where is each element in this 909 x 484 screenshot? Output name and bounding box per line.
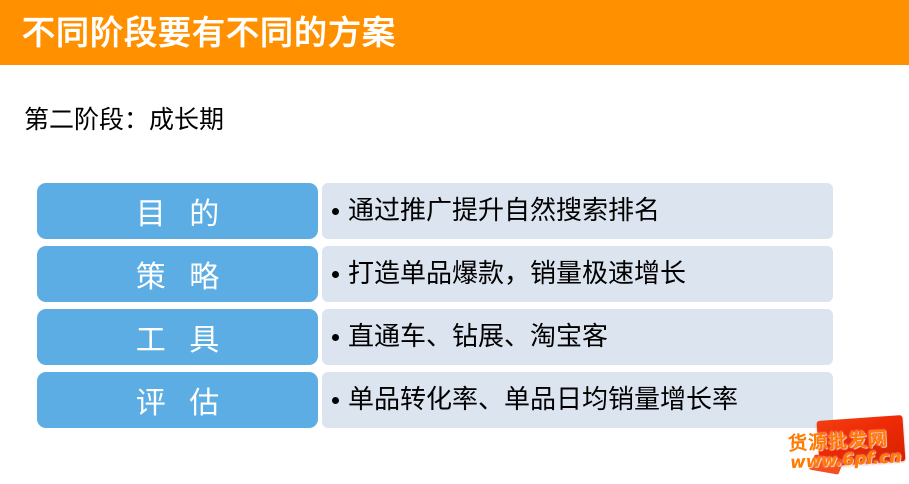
bullet-icon [332, 271, 339, 278]
table-row: 目 的 通过推广提升自然搜索排名 [37, 183, 833, 239]
row-label-strategy: 策 略 [37, 246, 318, 302]
row-body-strategy: 打造单品爆款，销量极速增长 [322, 246, 833, 302]
row-body-purpose: 通过推广提升自然搜索排名 [322, 183, 833, 239]
stage-subtitle: 第二阶段：成长期 [24, 103, 224, 137]
row-body-text: 单品转化率、单品日均销量增长率 [348, 383, 738, 417]
row-body-text: 打造单品爆款，销量极速增长 [348, 257, 686, 291]
row-label-purpose: 目 的 [37, 183, 318, 239]
title-bar: 不同阶段要有不同的方案 [0, 0, 909, 65]
row-label-tools: 工 具 [37, 309, 318, 365]
slide-canvas: 不同阶段要有不同的方案 第二阶段：成长期 目 的 通过推广提升自然搜索排名 策 … [0, 0, 909, 484]
bullet-icon [332, 208, 339, 215]
stage-plan-table: 目 的 通过推广提升自然搜索排名 策 略 打造单品爆款，销量极速增长 工 具 直… [37, 183, 833, 428]
row-body-text: 直通车、钻展、淘宝客 [348, 320, 608, 354]
row-body-text: 通过推广提升自然搜索排名 [348, 194, 660, 228]
bullet-icon [332, 334, 339, 341]
table-row: 策 略 打造单品爆款，销量极速增长 [37, 246, 833, 302]
table-row: 评 估 单品转化率、单品日均销量增长率 [37, 372, 833, 428]
page-title: 不同阶段要有不同的方案 [22, 10, 396, 55]
table-row: 工 具 直通车、钻展、淘宝客 [37, 309, 833, 365]
watermark-site-url: www.6pf.cn [790, 447, 909, 473]
row-body-evaluation: 单品转化率、单品日均销量增长率 [322, 372, 833, 428]
row-label-evaluation: 评 估 [37, 372, 318, 428]
bullet-icon [332, 397, 339, 404]
row-body-tools: 直通车、钻展、淘宝客 [322, 309, 833, 365]
